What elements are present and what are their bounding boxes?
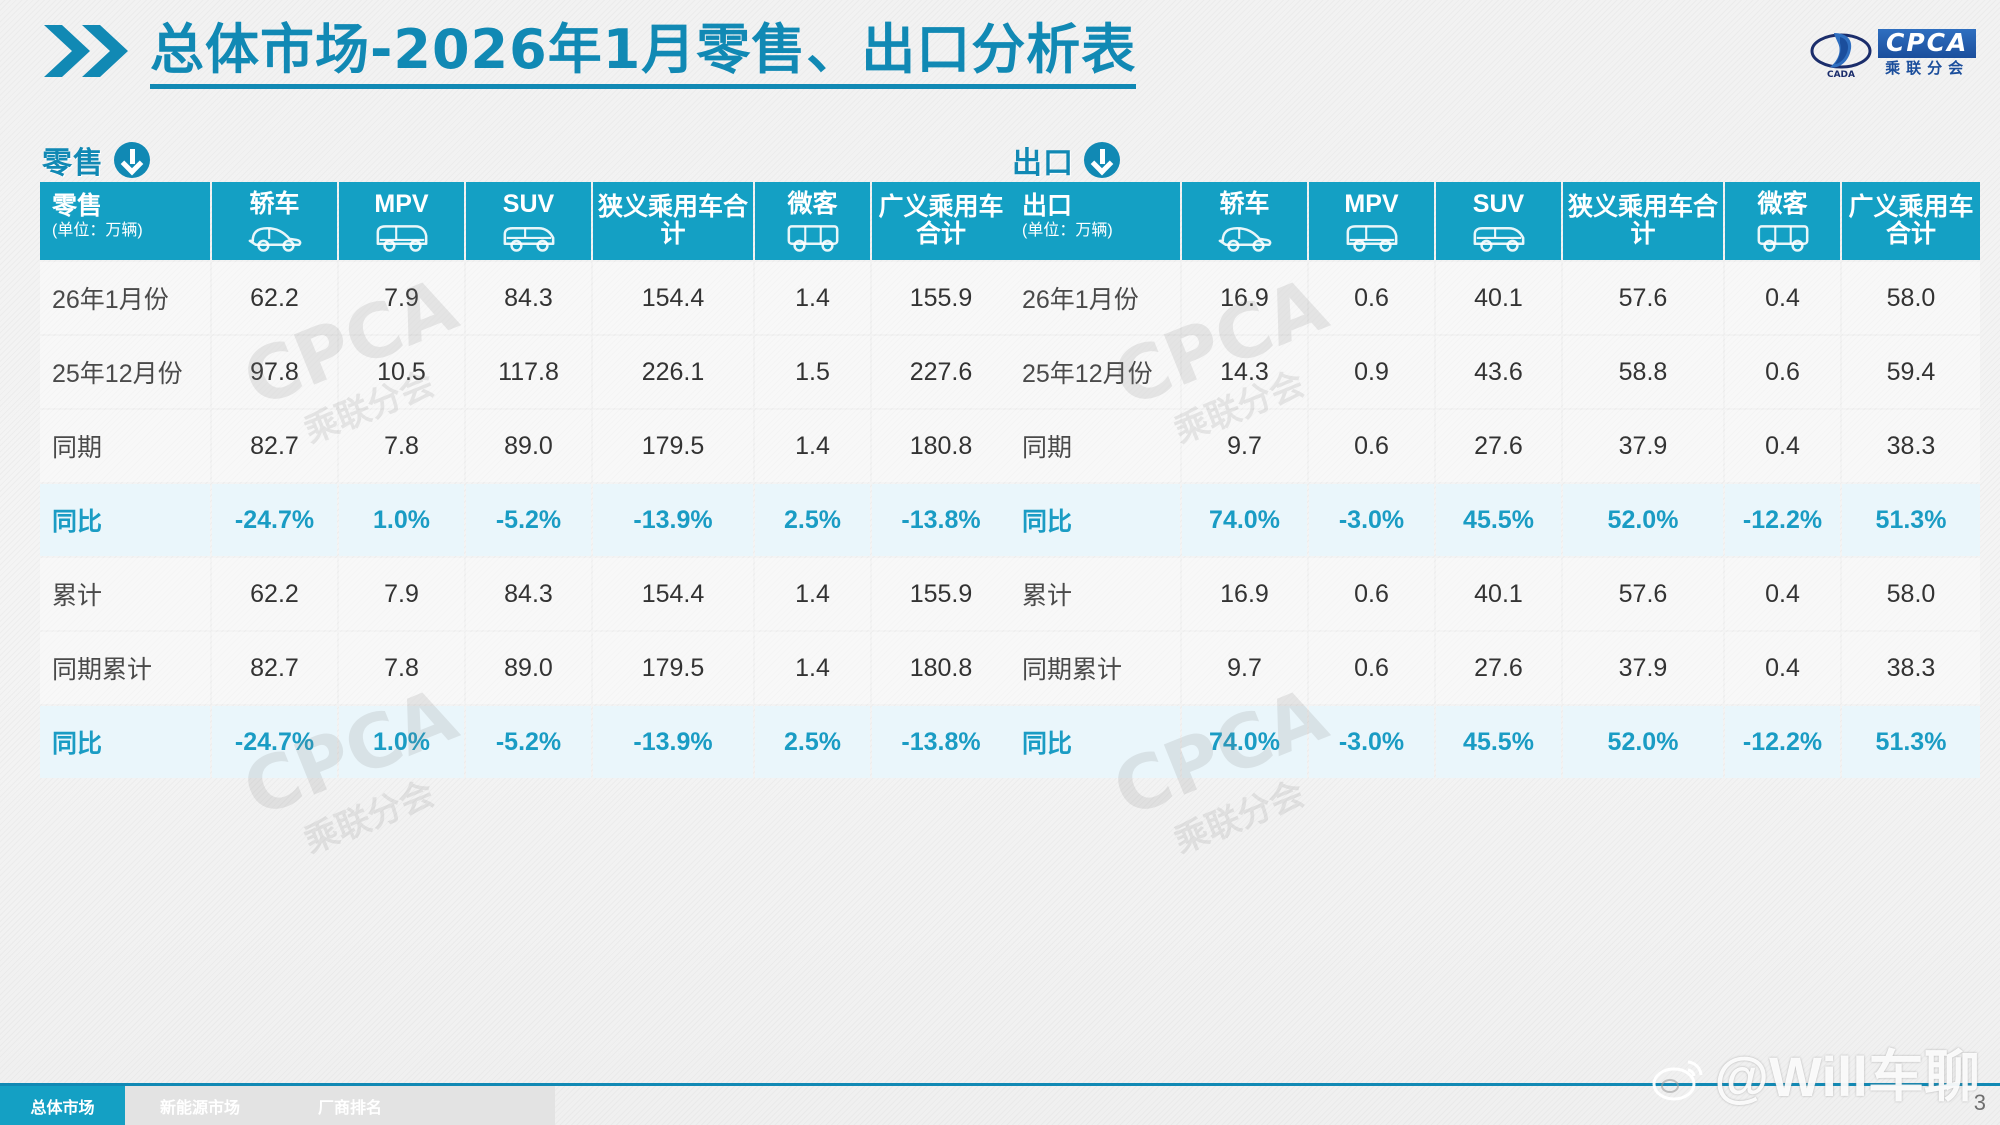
column-header-label: 狭义乘用车合计 [1565, 194, 1721, 248]
cpca-logo: CADA CPCA 乘联分会 [1810, 24, 1978, 82]
section-label-export-text: 出口 [1012, 138, 1074, 182]
cell-value: 52.0% [1563, 484, 1723, 556]
cell-value: -5.2% [466, 484, 591, 556]
corner-label: 零售 [52, 192, 102, 220]
cell-value: 0.6 [1309, 410, 1434, 482]
cell-value: 7.9 [339, 558, 464, 630]
cell-value: 84.3 [466, 558, 591, 630]
cell-value: -24.7% [212, 706, 337, 778]
mpv-icon [1343, 220, 1401, 253]
cell-value: 0.4 [1725, 558, 1840, 630]
cell-value: -13.8% [872, 484, 1010, 556]
cell-value: 0.6 [1309, 558, 1434, 630]
column-header-6: 广义乘用车合计 [1842, 182, 1980, 260]
table-row: 累计62.27.984.3154.41.4155.9 [40, 558, 1010, 630]
cell-value: 57.6 [1563, 262, 1723, 334]
cell-value: 1.4 [755, 262, 870, 334]
column-header-1: 轿车 [1182, 182, 1307, 260]
suv-icon [500, 220, 558, 253]
cell-value: 37.9 [1563, 410, 1723, 482]
table-row: 同期82.77.889.0179.51.4180.8 [40, 410, 1010, 482]
footer-tab-label: 总体市场 [30, 1094, 94, 1118]
cell-value: 45.5% [1436, 706, 1561, 778]
cell-value: 2.5% [755, 706, 870, 778]
cell-value: 1.4 [755, 558, 870, 630]
logo-mark: CPCA [1878, 29, 1976, 58]
cell-value: 62.2 [212, 262, 337, 334]
cell-value: 97.8 [212, 336, 337, 408]
cell-value: 9.7 [1182, 410, 1307, 482]
table-row: 同比-24.7%1.0%-5.2%-13.9%2.5%-13.8% [40, 484, 1010, 556]
cell-value: 0.4 [1725, 632, 1840, 704]
cell-value: 62.2 [212, 558, 337, 630]
table-row: 累计16.90.640.157.60.458.0 [1010, 558, 1980, 630]
cell-value: 180.8 [872, 410, 1010, 482]
table-row: 26年1月份62.27.984.3154.41.4155.9 [40, 262, 1010, 334]
column-header-label: MPV [1344, 190, 1398, 218]
section-label-retail: 零售 [42, 138, 150, 182]
cell-value: 27.6 [1436, 632, 1561, 704]
cell-value: 59.4 [1842, 336, 1980, 408]
cell-value: 0.6 [1309, 632, 1434, 704]
cell-value: 0.4 [1725, 410, 1840, 482]
row-label: 累计 [1010, 558, 1180, 630]
export-table-body: 26年1月份16.90.640.157.60.458.025年12月份14.30… [1010, 262, 1980, 778]
cell-value: 89.0 [466, 632, 591, 704]
footer-tab-1[interactable]: 总体市场 [0, 1086, 125, 1125]
footer-tabs[interactable]: 总体市场新能源市场厂商排名 [0, 1086, 555, 1125]
column-header-label: MPV [374, 190, 428, 218]
column-header-4: 狭义乘用车合计 [1563, 182, 1723, 260]
row-label: 同期 [1010, 410, 1180, 482]
column-header-1: 轿车 [212, 182, 337, 260]
table-row: 26年1月份16.90.640.157.60.458.0 [1010, 262, 1980, 334]
export-corner-header: 出口(单位：万辆) [1010, 182, 1180, 260]
table-row: 同比-24.7%1.0%-5.2%-13.9%2.5%-13.8% [40, 706, 1010, 778]
cell-value: -3.0% [1309, 706, 1434, 778]
column-header-2: MPV [1309, 182, 1434, 260]
cell-value: -3.0% [1309, 484, 1434, 556]
cell-value: 155.9 [872, 262, 1010, 334]
export-header-row: 出口(单位：万辆)轿车MPVSUV狭义乘用车合计微客广义乘用车合计 [1010, 182, 1980, 260]
logo-text-block: CPCA 乘联分会 [1878, 29, 1976, 78]
cell-value: 0.6 [1309, 262, 1434, 334]
cell-value: 1.4 [755, 632, 870, 704]
section-label-export: 出口 [1012, 138, 1120, 182]
cell-value: 154.4 [593, 558, 753, 630]
row-label: 同比 [1010, 706, 1180, 778]
retail-table: 零售(单位：万辆)轿车MPVSUV狭义乘用车合计微客广义乘用车合计 26年1月份… [38, 180, 1012, 780]
footer-tab-2[interactable]: 新能源市场 [125, 1086, 275, 1125]
cell-value: 10.5 [339, 336, 464, 408]
column-header-label: 广义乘用车合计 [1844, 194, 1978, 248]
channel-watermark-text: @Will车聊 [1714, 1032, 1980, 1113]
column-header-label: 微客 [787, 190, 837, 218]
weibo-logo-icon [1650, 1050, 1708, 1096]
page-number: 3 [1974, 1090, 1986, 1116]
cell-value: 1.0% [339, 484, 464, 556]
sedan-icon [1216, 220, 1274, 253]
suv-icon [1470, 220, 1528, 253]
cell-value: 82.7 [212, 410, 337, 482]
svg-text:CADA: CADA [1827, 70, 1855, 79]
cell-value: 154.4 [593, 262, 753, 334]
cell-value: 58.0 [1842, 262, 1980, 334]
column-header-5: 微客 [1725, 182, 1840, 260]
cell-value: 1.0% [339, 706, 464, 778]
cell-value: 74.0% [1182, 484, 1307, 556]
cell-value: 89.0 [466, 410, 591, 482]
table-row: 25年12月份14.30.943.658.80.659.4 [1010, 336, 1980, 408]
cell-value: 45.5% [1436, 484, 1561, 556]
cell-value: -24.7% [212, 484, 337, 556]
cell-value: 180.8 [872, 632, 1010, 704]
arrow-down-circle-icon [1084, 142, 1120, 178]
cell-value: 226.1 [593, 336, 753, 408]
row-label: 25年12月份 [1010, 336, 1180, 408]
cell-value: 84.3 [466, 262, 591, 334]
table-row: 同期9.70.627.637.90.438.3 [1010, 410, 1980, 482]
minivan-icon [784, 220, 842, 253]
corner-unit: (单位：万辆) [52, 222, 208, 240]
column-header-label: 广义乘用车合计 [874, 194, 1008, 248]
cell-value: 40.1 [1436, 262, 1561, 334]
cell-value: 51.3% [1842, 706, 1980, 778]
cell-value: 7.9 [339, 262, 464, 334]
row-label: 25年12月份 [40, 336, 210, 408]
cell-value: 0.9 [1309, 336, 1434, 408]
cell-value: 27.6 [1436, 410, 1561, 482]
cell-value: 38.3 [1842, 632, 1980, 704]
export-table: 出口(单位：万辆)轿车MPVSUV狭义乘用车合计微客广义乘用车合计 26年1月份… [1008, 180, 1982, 780]
cell-value: 179.5 [593, 632, 753, 704]
retail-table-head: 零售(单位：万辆)轿车MPVSUV狭义乘用车合计微客广义乘用车合计 [40, 182, 1010, 260]
retail-corner-header: 零售(单位：万辆) [40, 182, 210, 260]
cell-value: 7.8 [339, 632, 464, 704]
cell-value: -5.2% [466, 706, 591, 778]
column-header-label: 轿车 [249, 190, 299, 218]
row-label: 累计 [40, 558, 210, 630]
column-header-4: 狭义乘用车合计 [593, 182, 753, 260]
cell-value: 58.0 [1842, 558, 1980, 630]
column-header-3: SUV [1436, 182, 1561, 260]
channel-watermark: @Will车聊 [1650, 1032, 1980, 1113]
cell-value: 16.9 [1182, 262, 1307, 334]
cell-value: 117.8 [466, 336, 591, 408]
page-title: 总体市场-2026年1月零售、出口分析表 [150, 22, 1136, 89]
cell-value: 2.5% [755, 484, 870, 556]
cell-value: 51.3% [1842, 484, 1980, 556]
row-label: 同期 [40, 410, 210, 482]
cell-value: 1.4 [755, 410, 870, 482]
cell-value: 155.9 [872, 558, 1010, 630]
cell-value: 7.8 [339, 410, 464, 482]
cell-value: -13.9% [593, 484, 753, 556]
row-label: 26年1月份 [40, 262, 210, 334]
row-label: 同比 [40, 706, 210, 778]
table-row: 25年12月份97.810.5117.8226.11.5227.6 [40, 336, 1010, 408]
cell-value: 43.6 [1436, 336, 1561, 408]
cell-value: 16.9 [1182, 558, 1307, 630]
watermark: 乘联分会 [1166, 766, 1310, 862]
table-row: 同比74.0%-3.0%45.5%52.0%-12.2%51.3% [1010, 706, 1980, 778]
row-label: 同比 [40, 484, 210, 556]
watermark: 乘联分会 [296, 766, 440, 862]
arrow-down-circle-icon [114, 142, 150, 178]
table-row: 同期累计9.70.627.637.90.438.3 [1010, 632, 1980, 704]
cell-value: 40.1 [1436, 558, 1561, 630]
cell-value: 14.3 [1182, 336, 1307, 408]
export-table-head: 出口(单位：万辆)轿车MPVSUV狭义乘用车合计微客广义乘用车合计 [1010, 182, 1980, 260]
cada-swoosh-icon: CADA [1810, 27, 1872, 79]
column-header-label: 轿车 [1219, 190, 1269, 218]
section-label-retail-text: 零售 [42, 138, 104, 182]
cell-value: -13.9% [593, 706, 753, 778]
column-header-6: 广义乘用车合计 [872, 182, 1010, 260]
minivan-icon [1754, 220, 1812, 253]
column-header-3: SUV [466, 182, 591, 260]
cell-value: 0.6 [1725, 336, 1840, 408]
footer-tab-3[interactable]: 厂商排名 [275, 1086, 425, 1125]
mpv-icon [373, 220, 431, 253]
row-label: 同期累计 [40, 632, 210, 704]
column-header-label: SUV [1473, 190, 1524, 218]
column-header-label: SUV [503, 190, 554, 218]
cell-value: 227.6 [872, 336, 1010, 408]
table-row: 同期累计82.77.889.0179.51.4180.8 [40, 632, 1010, 704]
corner-label: 出口 [1022, 192, 1072, 220]
cell-value: -13.8% [872, 706, 1010, 778]
cell-value: 52.0% [1563, 706, 1723, 778]
page-header: 总体市场-2026年1月零售、出口分析表 CADA CPCA 乘联分会 [0, 0, 2000, 120]
title-block: 总体市场-2026年1月零售、出口分析表 [42, 22, 1136, 89]
logo-chinese-name: 乘联分会 [1878, 60, 1976, 78]
double-chevron-right-icon [42, 23, 132, 79]
row-label: 同比 [1010, 484, 1180, 556]
cell-value: 37.9 [1563, 632, 1723, 704]
retail-table-body: 26年1月份62.27.984.3154.41.4155.925年12月份97.… [40, 262, 1010, 778]
sedan-icon [246, 220, 304, 253]
cell-value: -12.2% [1725, 484, 1840, 556]
column-header-5: 微客 [755, 182, 870, 260]
cell-value: -12.2% [1725, 706, 1840, 778]
cell-value: 58.8 [1563, 336, 1723, 408]
column-header-2: MPV [339, 182, 464, 260]
row-label: 26年1月份 [1010, 262, 1180, 334]
cell-value: 82.7 [212, 632, 337, 704]
cell-value: 38.3 [1842, 410, 1980, 482]
table-row: 同比74.0%-3.0%45.5%52.0%-12.2%51.3% [1010, 484, 1980, 556]
retail-header-row: 零售(单位：万辆)轿车MPVSUV狭义乘用车合计微客广义乘用车合计 [40, 182, 1010, 260]
cell-value: 57.6 [1563, 558, 1723, 630]
footer-tab-label: 厂商排名 [318, 1094, 382, 1118]
column-header-label: 微客 [1757, 190, 1807, 218]
cell-value: 74.0% [1182, 706, 1307, 778]
cell-value: 1.5 [755, 336, 870, 408]
column-header-label: 狭义乘用车合计 [595, 194, 751, 248]
footer-tab-label: 新能源市场 [160, 1094, 240, 1118]
cell-value: 9.7 [1182, 632, 1307, 704]
cell-value: 0.4 [1725, 262, 1840, 334]
cell-value: 179.5 [593, 410, 753, 482]
row-label: 同期累计 [1010, 632, 1180, 704]
corner-unit: (单位：万辆) [1022, 222, 1178, 240]
